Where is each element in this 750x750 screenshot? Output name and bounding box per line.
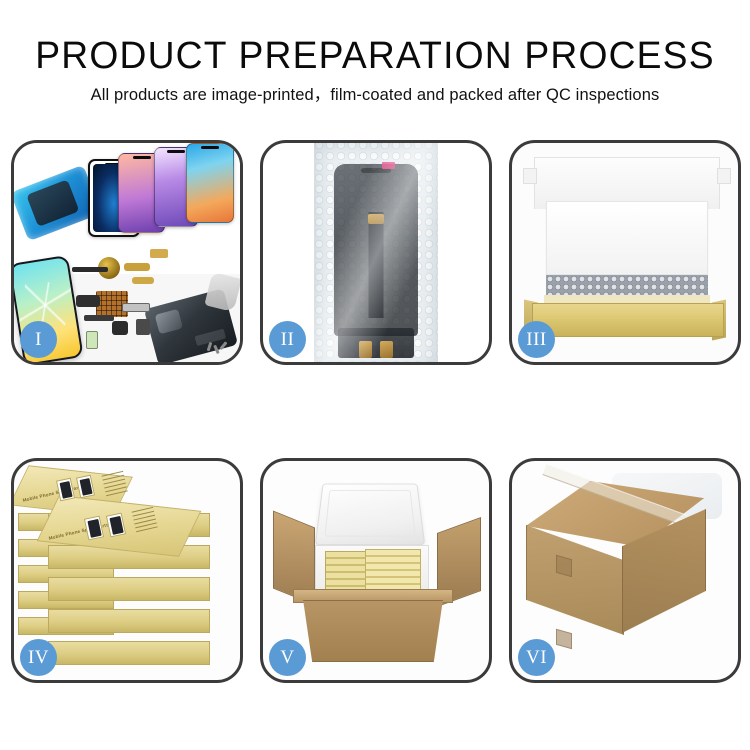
component-icon — [122, 303, 150, 312]
connector-board-icon — [338, 328, 414, 358]
packed-units-icon — [365, 549, 421, 591]
product-preparation-process-page: PRODUCT PREPARATION PROCESS All products… — [0, 0, 750, 750]
process-step-panel-3[interactable]: III — [509, 140, 741, 365]
foam-sheet-icon — [546, 201, 708, 275]
carton-left-face-icon — [526, 525, 624, 635]
component-icon — [84, 315, 114, 321]
kraft-tray-icon — [532, 303, 724, 337]
page-title: PRODUCT PREPARATION PROCESS — [8, 34, 743, 78]
component-icon — [76, 295, 100, 307]
step-badge-1: I — [20, 321, 57, 358]
flex-cable-icon — [124, 263, 150, 271]
process-steps-grid: I II — [11, 140, 739, 683]
bubble-wrap-bag-icon — [314, 143, 438, 362]
screws-icon — [206, 340, 230, 358]
process-step-panel-5[interactable]: V — [260, 458, 492, 683]
step-badge-3: III — [518, 321, 555, 358]
pink-label-icon — [382, 162, 395, 169]
step-badge-5: V — [269, 639, 306, 676]
step-badge-4: IV — [20, 639, 57, 676]
foam-lid-icon — [315, 484, 426, 546]
flex-cable-icon — [150, 249, 168, 258]
header: PRODUCT PREPARATION PROCESS All products… — [0, 34, 750, 105]
component-icon — [136, 319, 150, 335]
tape-patch-icon — [556, 629, 572, 650]
flex-cable-icon — [369, 212, 384, 318]
phone-screen-icon — [186, 143, 234, 223]
step-badge-2: II — [269, 321, 306, 358]
battery-icon — [86, 331, 98, 349]
stacked-box-icon — [48, 641, 210, 665]
step-badge-6: VI — [518, 639, 555, 676]
gold-contact-icon — [368, 214, 384, 224]
flex-cable-icon — [132, 277, 154, 284]
gold-contact-icon — [380, 341, 393, 358]
stacked-box-icon — [48, 577, 210, 601]
gold-contact-icon — [359, 341, 372, 358]
stacked-box-icon — [48, 609, 210, 633]
page-subtitle: All products are image-printed，film-coat… — [0, 85, 750, 105]
notch-icon — [133, 156, 151, 159]
notch-icon — [167, 150, 185, 153]
carton-front-icon — [297, 600, 449, 662]
process-step-panel-6[interactable]: VI — [509, 458, 741, 683]
process-step-panel-2[interactable]: II — [260, 140, 492, 365]
flex-cable-icon — [72, 267, 108, 272]
notch-icon — [201, 146, 219, 149]
component-icon — [112, 321, 128, 335]
process-step-panel-1[interactable]: I — [11, 140, 243, 365]
process-step-panel-4[interactable]: Mobile Phone Spare Parts Mobile Phone Sp… — [11, 458, 243, 683]
